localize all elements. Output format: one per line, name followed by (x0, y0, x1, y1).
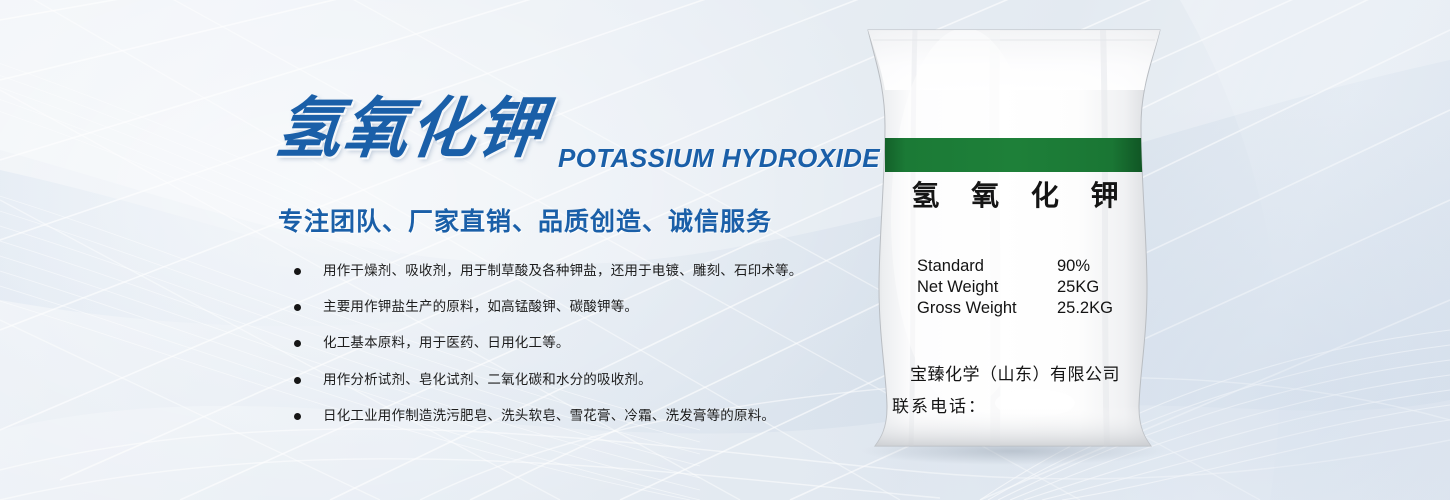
bullet-dot-icon (294, 304, 301, 311)
feature-text: 化工基本原料，用于医药、日用化工等。 (323, 334, 570, 352)
headline-block: 氢氧化钾 POTASSIUM HYDROXIDE 专注团队、厂家直销、品质创造、… (272, 96, 872, 425)
bullet-dot-icon (294, 268, 301, 275)
feature-text: 日化工业用作制造洗污肥皂、洗头软皂、雪花膏、冷霜、洗发膏等的原料。 (323, 407, 775, 425)
bullet-dot-icon (294, 413, 301, 420)
feature-text: 用作分析试剂、皂化试剂、二氧化碳和水分的吸收剂。 (323, 371, 652, 389)
title-row: 氢氧化钾 POTASSIUM HYDROXIDE (272, 96, 872, 182)
list-item: 用作干燥剂、吸收剂，用于制草酸及各种钾盐，还用于电镀、雕刻、石印术等。 (272, 262, 872, 280)
list-item: 用作分析试剂、皂化试剂、二氧化碳和水分的吸收剂。 (272, 371, 872, 389)
feature-list: 用作干燥剂、吸收剂，用于制草酸及各种钾盐，还用于电镀、雕刻、石印术等。 主要用作… (272, 262, 872, 425)
bag-body (845, 28, 1185, 448)
product-bag-image: 氢 氧 化 钾 Standard 90% Net Weight 25KG Gro… (845, 8, 1185, 478)
bullet-dot-icon (294, 340, 301, 347)
list-item: 日化工业用作制造洗污肥皂、洗头软皂、雪花膏、冷霜、洗发膏等的原料。 (272, 407, 872, 425)
feature-text: 用作干燥剂、吸收剂，用于制草酸及各种钾盐，还用于电镀、雕刻、石印术等。 (323, 262, 803, 280)
page-title: 氢氧化钾 (272, 96, 548, 162)
list-item: 主要用作钾盐生产的原料，如高锰酸钾、碳酸钾等。 (272, 298, 872, 316)
slogan: 专注团队、厂家直销、品质创造、诚信服务 (272, 202, 872, 238)
bag-green-stripe (885, 138, 1143, 172)
bullet-dot-icon (294, 377, 301, 384)
feature-text: 主要用作钾盐生产的原料，如高锰酸钾、碳酸钾等。 (323, 298, 638, 316)
english-subtitle: POTASSIUM HYDROXIDE (558, 143, 880, 174)
promotional-banner: 氢氧化钾 POTASSIUM HYDROXIDE 专注团队、厂家直销、品质创造、… (0, 0, 1450, 500)
list-item: 化工基本原料，用于医药、日用化工等。 (272, 334, 872, 352)
